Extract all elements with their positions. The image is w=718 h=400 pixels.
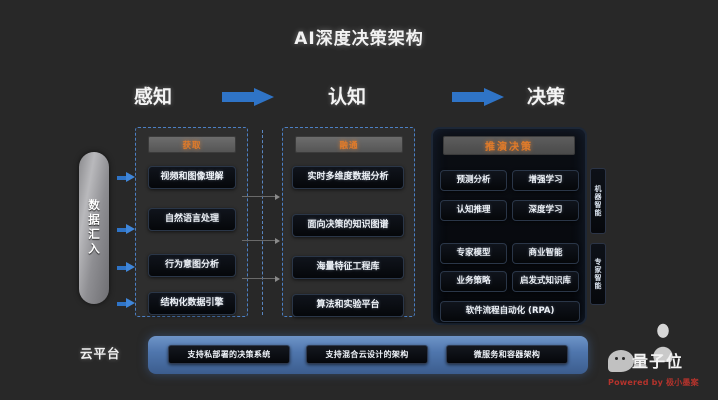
feed-arrow-icon-4 (117, 298, 135, 309)
side-label-machine-intelligence: 机器智能 (590, 168, 606, 234)
arrow-right-icon-perception-cognition (222, 88, 274, 106)
side-label-text-1: 机器智能 (593, 185, 603, 217)
connector-line-1 (242, 196, 276, 197)
phase-label-cognition: 认知 (328, 82, 366, 109)
node-cognition-3[interactable]: 海量特征工程库 (292, 256, 404, 279)
cloud-chip-hybrid-cloud[interactable]: 支持混合云设计的架构 (306, 345, 428, 364)
node-decision-r4c1[interactable]: 业务策略 (440, 271, 507, 292)
node-decision-r1c2[interactable]: 增强学习 (512, 170, 579, 191)
node-cognition-2[interactable]: 面向决策的知识图谱 (292, 214, 404, 237)
wechat-icon (608, 350, 634, 372)
watermark-powered-by: Powered by 极小墨案 (608, 377, 699, 388)
connector-line-2 (242, 240, 276, 241)
arrow-right-icon-cognition-decision (452, 88, 504, 106)
node-decision-r3c1[interactable]: 专家模型 (440, 243, 507, 264)
watermark-brand: 量子位 (632, 348, 683, 372)
node-decision-r2c2[interactable]: 深度学习 (512, 200, 579, 221)
node-decision-r1c1[interactable]: 预测分析 (440, 170, 507, 191)
cloud-chip-private-deploy[interactable]: 支持私部署的决策系统 (168, 345, 290, 364)
side-label-text-2: 专家智能 (593, 258, 603, 290)
node-decision-r3c2[interactable]: 商业智能 (512, 243, 579, 264)
feed-arrow-icon-1 (117, 172, 135, 183)
node-perception-2[interactable]: 自然语言处理 (148, 208, 236, 231)
diagram-canvas: AI深度决策架构 感知 认知 决策 数据汇入 获取 融通 推演决策 视频和图像理… (0, 0, 718, 400)
node-perception-1[interactable]: 视频和图像理解 (148, 166, 236, 189)
feed-arrow-icon-3 (117, 262, 135, 273)
node-decision-r4c2[interactable]: 启发式知识库 (512, 271, 579, 292)
node-cognition-1[interactable]: 实时多维度数据分析 (292, 166, 404, 189)
column-caption-perception: 获取 (148, 136, 236, 153)
page-title: AI深度决策架构 (0, 24, 718, 49)
side-label-expert-intelligence: 专家智能 (590, 243, 606, 305)
cloud-platform-label: 云平台 (80, 343, 121, 362)
node-decision-r2c1[interactable]: 认知推理 (440, 200, 507, 221)
node-perception-3[interactable]: 行为意图分析 (148, 254, 236, 277)
column-caption-decision: 推演决策 (443, 136, 575, 155)
node-perception-4[interactable]: 结构化数据引擎 (148, 292, 236, 315)
watermark: 量子位 Powered by 极小墨案 (608, 322, 712, 394)
cloud-chip-microservice[interactable]: 微服务和容器架构 (446, 345, 568, 364)
panel-divider (262, 130, 263, 315)
phase-label-decision: 决策 (527, 82, 565, 109)
data-inflow-label: 数据汇入 (86, 199, 102, 257)
column-caption-cognition: 融通 (295, 136, 403, 153)
node-decision-rpa[interactable]: 软件流程自动化 (RPA) (440, 301, 580, 322)
phase-label-perception: 感知 (134, 82, 172, 109)
node-cognition-4[interactable]: 算法和实验平台 (292, 294, 404, 317)
data-inflow-pill: 数据汇入 (79, 152, 109, 304)
connector-line-3 (242, 278, 276, 279)
panel-decision (431, 127, 587, 325)
feed-arrow-icon-2 (117, 224, 135, 235)
